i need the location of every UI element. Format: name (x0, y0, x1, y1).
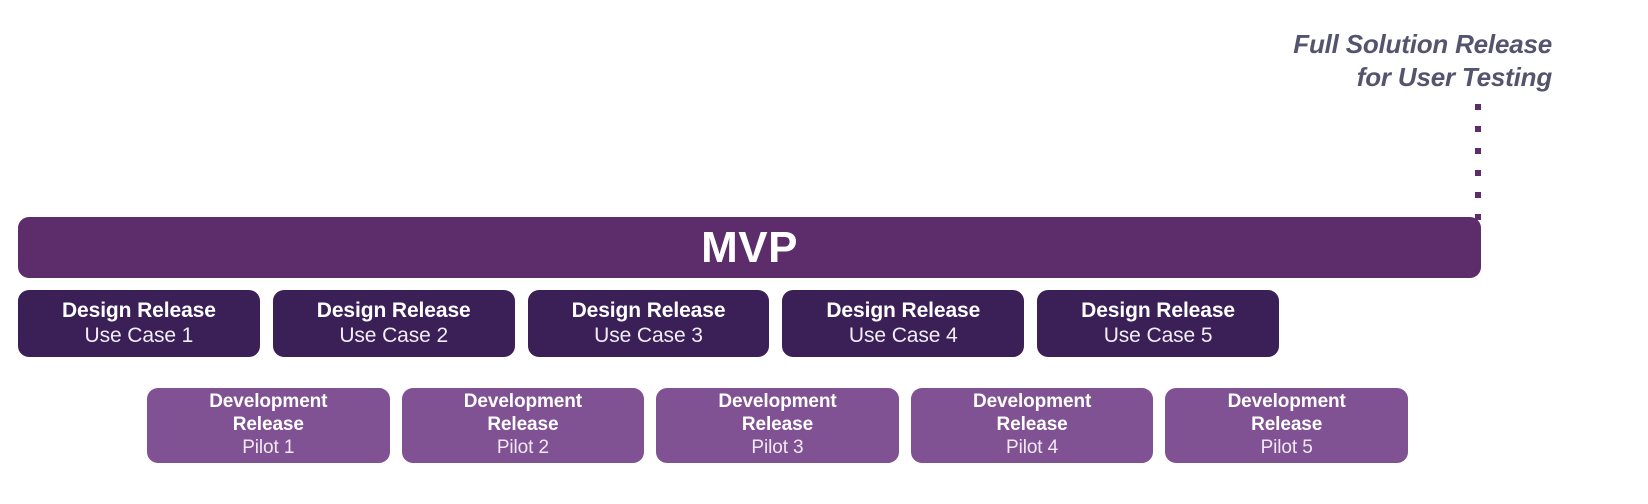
design-release-subtitle: Use Case 3 (594, 323, 703, 348)
development-release-title: Development Release (718, 391, 836, 437)
design-release-row: Design Release Use Case 1 Design Release… (18, 290, 1279, 357)
design-release-title: Design Release (62, 299, 216, 323)
mvp-bar[interactable]: MVP (18, 217, 1481, 278)
design-release-subtitle: Use Case 2 (339, 323, 448, 348)
mvp-label: MVP (701, 226, 798, 270)
connector-dot (1475, 104, 1481, 110)
development-release-subtitle: Pilot 1 (242, 436, 294, 460)
connector-dot (1475, 148, 1481, 154)
development-release-card[interactable]: Development Release Pilot 5 (1165, 388, 1408, 463)
development-release-subtitle: Pilot 5 (1261, 436, 1313, 460)
development-release-card[interactable]: Development Release Pilot 3 (656, 388, 899, 463)
design-release-card[interactable]: Design Release Use Case 1 (18, 290, 260, 357)
design-release-subtitle: Use Case 4 (849, 323, 958, 348)
development-release-subtitle: Pilot 3 (751, 436, 803, 460)
design-release-subtitle: Use Case 5 (1104, 323, 1213, 348)
development-release-card[interactable]: Development Release Pilot 4 (911, 388, 1154, 463)
design-release-card[interactable]: Design Release Use Case 5 (1037, 290, 1279, 357)
design-release-subtitle: Use Case 1 (85, 323, 194, 348)
development-release-title: Development Release (464, 391, 582, 437)
full-solution-release-annotation: Full Solution Release for User Testing (1132, 28, 1552, 95)
development-release-subtitle: Pilot 2 (497, 436, 549, 460)
development-release-subtitle: Pilot 4 (1006, 436, 1058, 460)
connector-dot (1475, 170, 1481, 176)
development-release-title: Development Release (209, 391, 327, 437)
development-release-title: Development Release (1228, 391, 1346, 437)
design-release-card[interactable]: Design Release Use Case 3 (528, 290, 770, 357)
design-release-title: Design Release (1081, 299, 1235, 323)
development-release-card[interactable]: Development Release Pilot 1 (147, 388, 390, 463)
development-release-card[interactable]: Development Release Pilot 2 (402, 388, 645, 463)
development-release-row: Development Release Pilot 1 Development … (147, 388, 1408, 463)
design-release-title: Design Release (572, 299, 726, 323)
connector-dot (1475, 192, 1481, 198)
design-release-title: Design Release (826, 299, 980, 323)
design-release-title: Design Release (317, 299, 471, 323)
development-release-title: Development Release (973, 391, 1091, 437)
design-release-card[interactable]: Design Release Use Case 4 (782, 290, 1024, 357)
connector-dot (1475, 126, 1481, 132)
design-release-card[interactable]: Design Release Use Case 2 (273, 290, 515, 357)
